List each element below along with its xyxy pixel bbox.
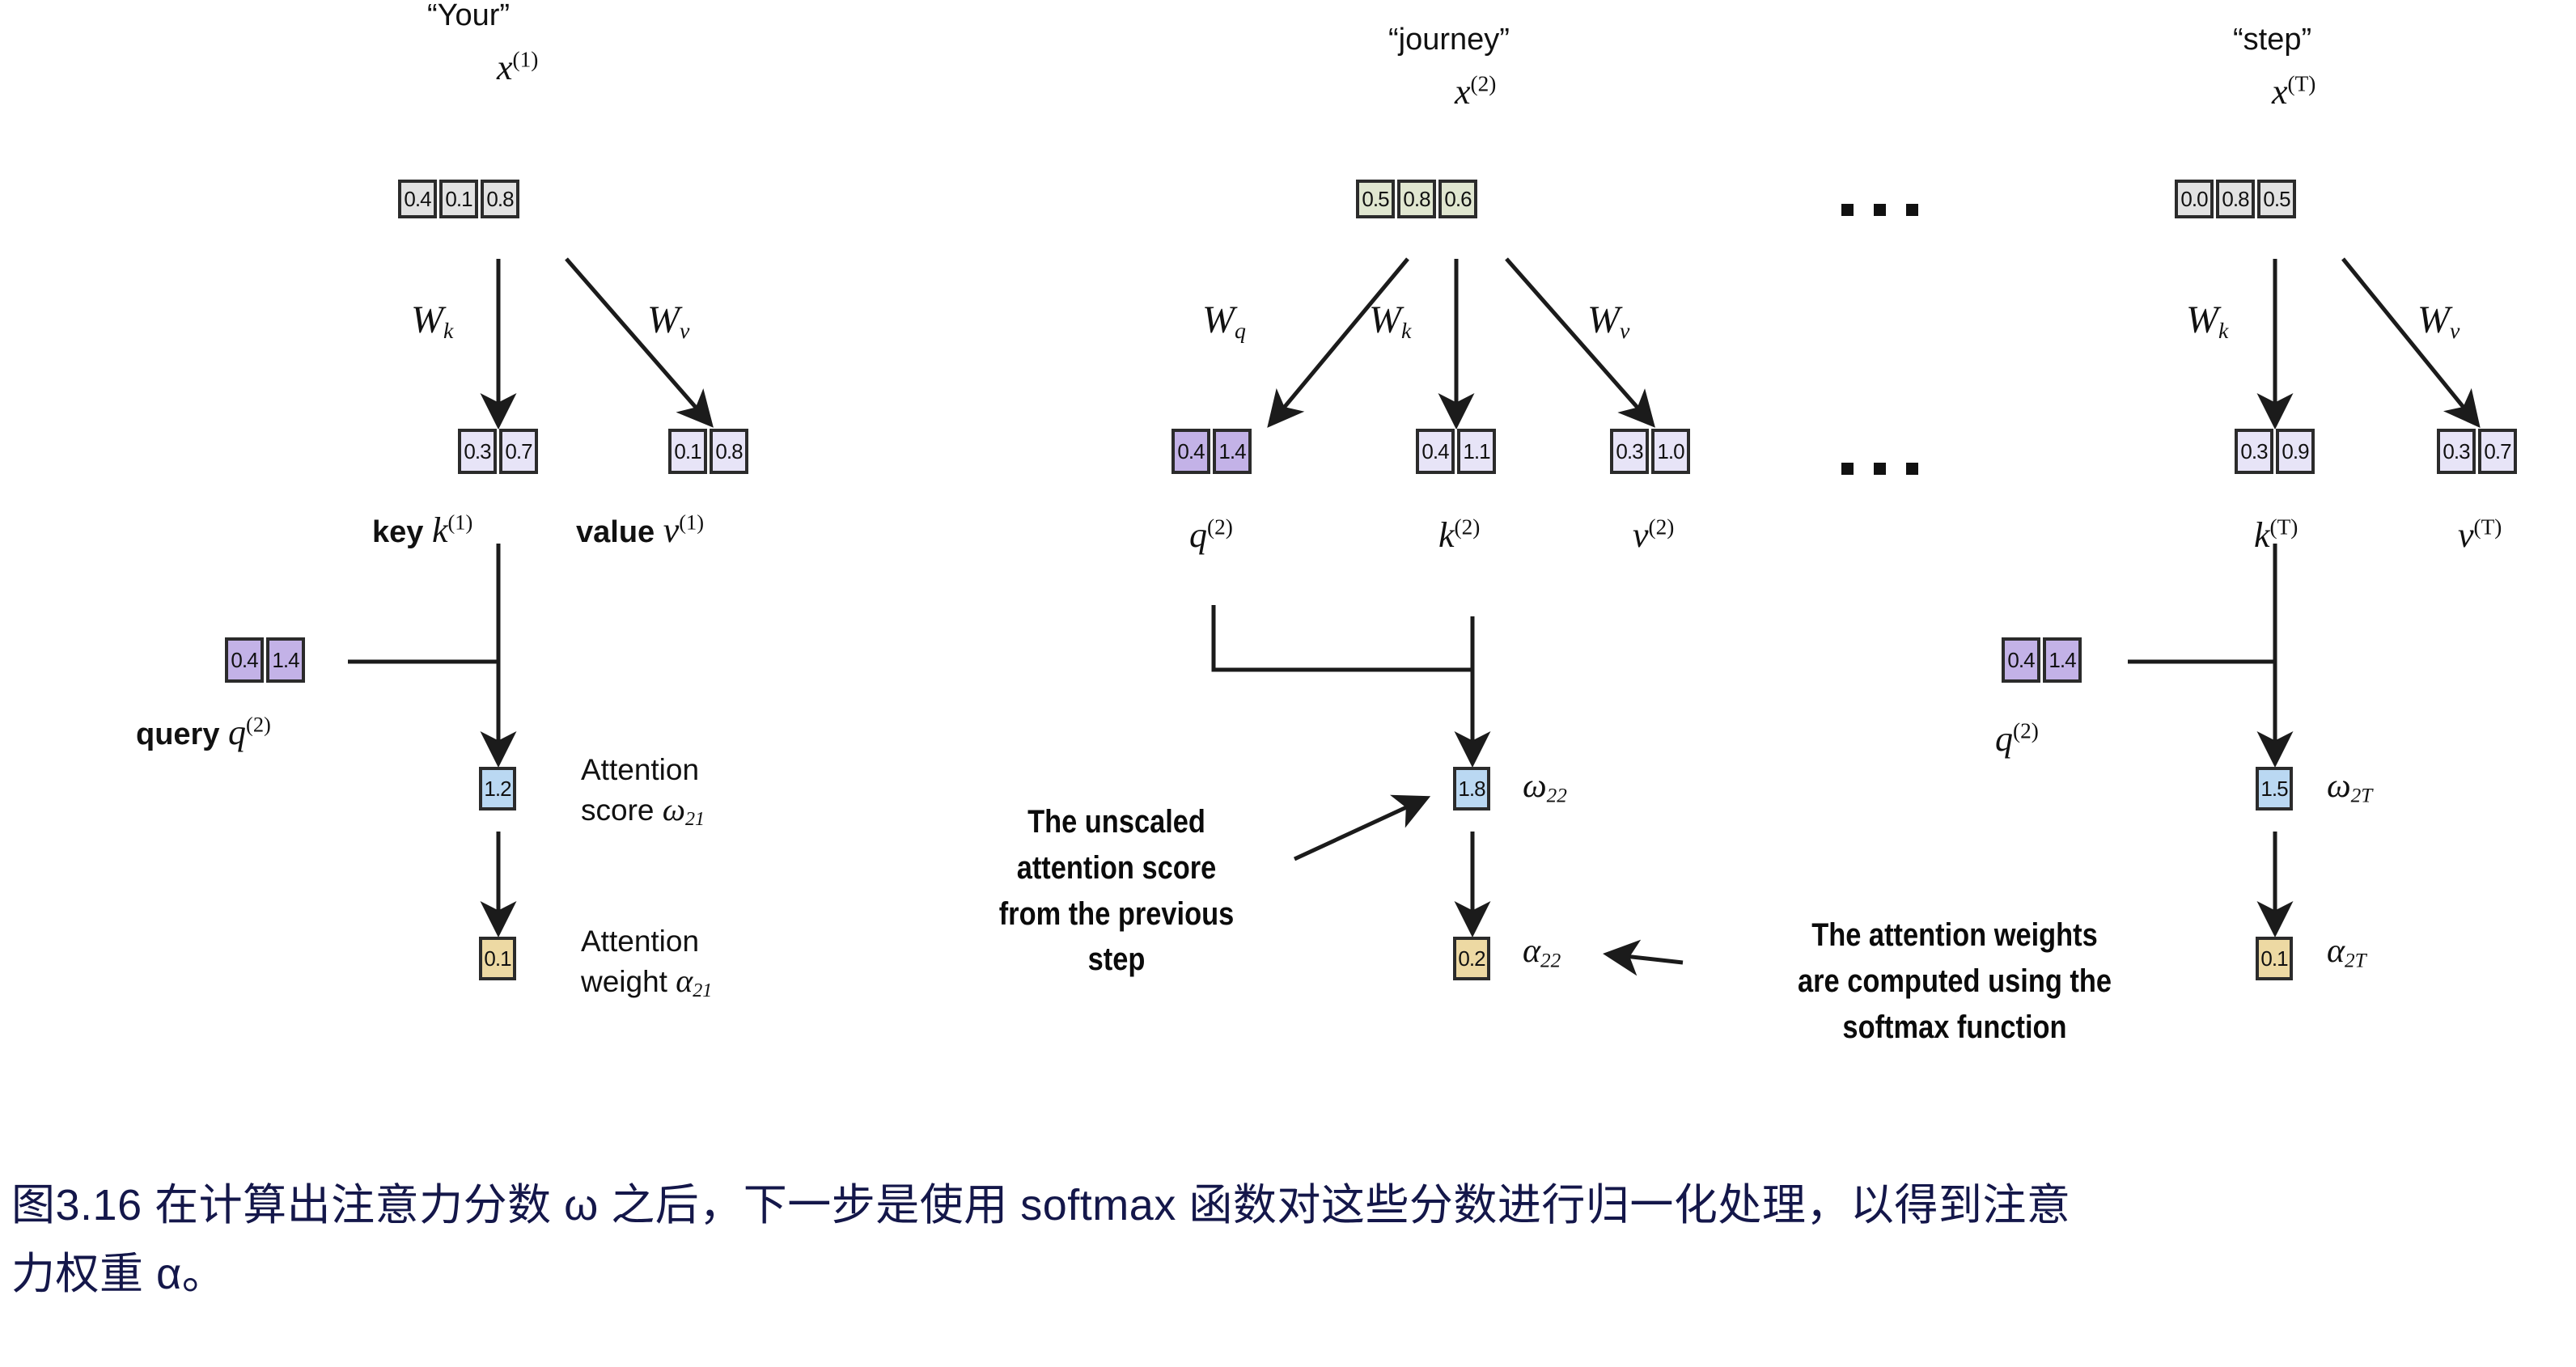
connector-query2-elbow bbox=[1214, 605, 1472, 670]
cell-value: 0.3 bbox=[1610, 429, 1649, 474]
annotation-line: are computed using the bbox=[1732, 959, 2177, 1005]
weight-label-wv-col3: Wv bbox=[2417, 298, 2459, 345]
weight-label-wk-col1: Wk bbox=[411, 298, 453, 345]
arrow-annotation-left bbox=[1294, 799, 1424, 859]
input-symbol-x1: x(1) bbox=[497, 47, 538, 88]
score-label-col1: Attention score ω21 bbox=[581, 751, 705, 832]
cell-value: 1.5 bbox=[2256, 767, 2293, 810]
ellipsis-dot bbox=[1906, 463, 1918, 475]
token-label-journey: “journey” bbox=[1388, 23, 1510, 57]
ellipsis-middle bbox=[1841, 463, 1918, 475]
attention-diagram: “Your” x(1) 0.4 0.1 0.8 Wk Wv 0.3 0.7 0.… bbox=[0, 0, 2576, 1165]
annotation-softmax: The attention weightsare computed using … bbox=[1732, 912, 2177, 1050]
arrow-annotation-right bbox=[1610, 954, 1683, 963]
input-vector-x2: 0.5 0.8 0.6 bbox=[1356, 180, 1477, 218]
annotation-unscaled-score: The unscaledattention scorefrom the prev… bbox=[950, 799, 1284, 983]
caption-line-2: 力权重 α。 bbox=[11, 1240, 2576, 1309]
value-label-col3: v(T) bbox=[2458, 514, 2502, 556]
weight-label-col1: Attention weight α21 bbox=[581, 922, 712, 1004]
annotation-line: The unscaled bbox=[950, 799, 1284, 845]
query-vector-q2-col2: 0.4 1.4 bbox=[1171, 429, 1252, 474]
ellipsis-dot bbox=[1841, 204, 1854, 216]
annotation-line: softmax function bbox=[1732, 1005, 2177, 1051]
cell-value: 0.0 bbox=[2175, 180, 2214, 218]
cell-value: 0.8 bbox=[2216, 180, 2255, 218]
cell-value: 1.1 bbox=[1457, 429, 1496, 474]
key-vector-k1: 0.3 0.7 bbox=[458, 429, 538, 474]
annotation-line: step bbox=[950, 937, 1284, 983]
cell-value: 1.4 bbox=[2043, 637, 2082, 683]
query-vector-q2-col3: 0.4 1.4 bbox=[2002, 637, 2082, 683]
score-box-w22: 1.8 bbox=[1453, 767, 1490, 810]
ellipsis-dot bbox=[1841, 463, 1854, 475]
value-vector-v1: 0.1 0.8 bbox=[668, 429, 748, 474]
score-box-w2T: 1.5 bbox=[2256, 767, 2293, 810]
weight-box-a21: 0.1 bbox=[479, 937, 516, 980]
key-vector-kT: 0.3 0.9 bbox=[2235, 429, 2315, 474]
cell-value: 0.5 bbox=[2257, 180, 2296, 218]
key-label-col1: key k(1) bbox=[372, 510, 472, 551]
score-box-w21: 1.2 bbox=[479, 767, 516, 810]
key-vector-k2: 0.4 1.1 bbox=[1416, 429, 1496, 474]
cell-value: 0.1 bbox=[479, 937, 516, 980]
weight-box-a2T: 0.1 bbox=[2256, 937, 2293, 980]
annotation-line: from the previous bbox=[950, 891, 1284, 937]
score-symbol-col3: ω2T bbox=[2327, 767, 2372, 807]
cell-value: 0.6 bbox=[1438, 180, 1477, 218]
weight-label-wv-col1: Wv bbox=[647, 298, 689, 345]
cell-value: 0.7 bbox=[499, 429, 538, 474]
value-label-col2: v(2) bbox=[1633, 514, 1674, 556]
figure-caption: 图3.16 在计算出注意力分数 ω 之后，下一步是使用 softmax 函数对这… bbox=[0, 1171, 2576, 1310]
cell-value: 0.3 bbox=[2235, 429, 2273, 474]
cell-value: 1.4 bbox=[266, 637, 305, 683]
cell-value: 0.1 bbox=[439, 180, 478, 218]
annotation-line: attention score bbox=[950, 845, 1284, 891]
cell-value: 0.8 bbox=[481, 180, 519, 218]
input-vector-x1: 0.4 0.1 0.8 bbox=[398, 180, 519, 218]
key-label-col2: k(2) bbox=[1438, 514, 1480, 556]
cell-value: 0.1 bbox=[2256, 937, 2293, 980]
value-vector-v2: 0.3 1.0 bbox=[1610, 429, 1690, 474]
weight-symbol-col2: α22 bbox=[1523, 932, 1561, 972]
cell-value: 0.4 bbox=[1171, 429, 1210, 474]
key-label-col3: k(T) bbox=[2254, 514, 2298, 556]
score-symbol-col2: ω22 bbox=[1523, 767, 1567, 807]
weight-label-wk-col3: Wk bbox=[2186, 298, 2228, 345]
cell-value: 0.4 bbox=[398, 180, 437, 218]
cell-value: 0.4 bbox=[225, 637, 264, 683]
input-vector-xT: 0.0 0.8 0.5 bbox=[2175, 180, 2296, 218]
input-symbol-x2: x(2) bbox=[1455, 71, 1496, 112]
cell-value: 0.9 bbox=[2276, 429, 2315, 474]
ellipsis-top bbox=[1841, 204, 1918, 216]
query-label-col2: q(2) bbox=[1189, 514, 1233, 556]
cell-value: 0.5 bbox=[1356, 180, 1395, 218]
ellipsis-dot bbox=[1906, 204, 1918, 216]
cell-value: 0.4 bbox=[2002, 637, 2040, 683]
cell-value: 0.1 bbox=[668, 429, 707, 474]
cell-value: 0.4 bbox=[1416, 429, 1455, 474]
connector-layer bbox=[0, 0, 2576, 1165]
weight-box-a22: 0.2 bbox=[1453, 937, 1490, 980]
weight-label-wv-col2: Wv bbox=[1587, 298, 1629, 345]
annotation-line: The attention weights bbox=[1732, 912, 2177, 959]
cell-value: 0.8 bbox=[1397, 180, 1436, 218]
value-vector-vT: 0.3 0.7 bbox=[2437, 429, 2517, 474]
cell-value: 1.4 bbox=[1213, 429, 1252, 474]
weight-label-wk-col2: Wk bbox=[1369, 298, 1411, 345]
cell-value: 0.2 bbox=[1453, 937, 1490, 980]
ellipsis-dot bbox=[1874, 204, 1886, 216]
cell-value: 1.0 bbox=[1651, 429, 1690, 474]
input-symbol-xT: x(T) bbox=[2272, 71, 2315, 112]
cell-value: 1.8 bbox=[1453, 767, 1490, 810]
token-label-step: “step” bbox=[2233, 23, 2311, 57]
weight-label-wq-col2: Wq bbox=[1202, 298, 1246, 345]
cell-value: 1.2 bbox=[479, 767, 516, 810]
cell-value: 0.7 bbox=[2478, 429, 2517, 474]
cell-value: 0.8 bbox=[710, 429, 748, 474]
token-label-your: “Your” bbox=[427, 0, 510, 33]
cell-value: 0.3 bbox=[2437, 429, 2476, 474]
caption-line-1: 图3.16 在计算出注意力分数 ω 之后，下一步是使用 softmax 函数对这… bbox=[11, 1171, 2576, 1240]
cell-value: 0.3 bbox=[458, 429, 497, 474]
value-label-col1: value v(1) bbox=[576, 510, 704, 551]
ellipsis-dot bbox=[1874, 463, 1886, 475]
query-vector-q2-col1: 0.4 1.4 bbox=[225, 637, 305, 683]
query-label-col1: query q(2) bbox=[136, 712, 271, 753]
query-label-col3: q(2) bbox=[1995, 718, 2039, 760]
weight-symbol-col3: α2T bbox=[2327, 932, 2366, 972]
